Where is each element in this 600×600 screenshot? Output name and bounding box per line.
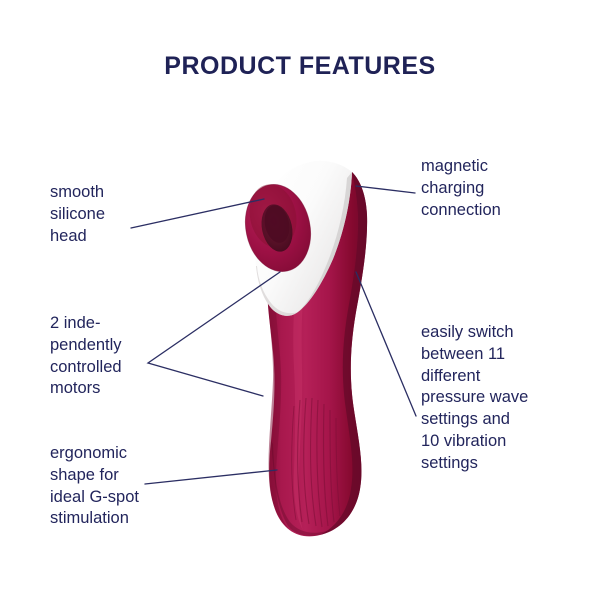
callout-ergonomic-shape: ergonomic shape for ideal G-spot stimula… bbox=[50, 443, 225, 530]
product-features-infographic: PRODUCT FEATURES bbox=[0, 0, 600, 600]
callout-smooth-silicone-head: smooth silicone head bbox=[50, 182, 210, 247]
callout-pressure-wave-settings: easily switch between 11 different press… bbox=[421, 322, 596, 474]
leader-line-settings bbox=[356, 272, 416, 416]
leader-line-magnetic-charging bbox=[356, 186, 415, 193]
callout-magnetic-charging-connection: magnetic charging connection bbox=[421, 156, 591, 221]
callout-independently-controlled-motors: 2 inde- pendently controlled motors bbox=[50, 313, 210, 400]
